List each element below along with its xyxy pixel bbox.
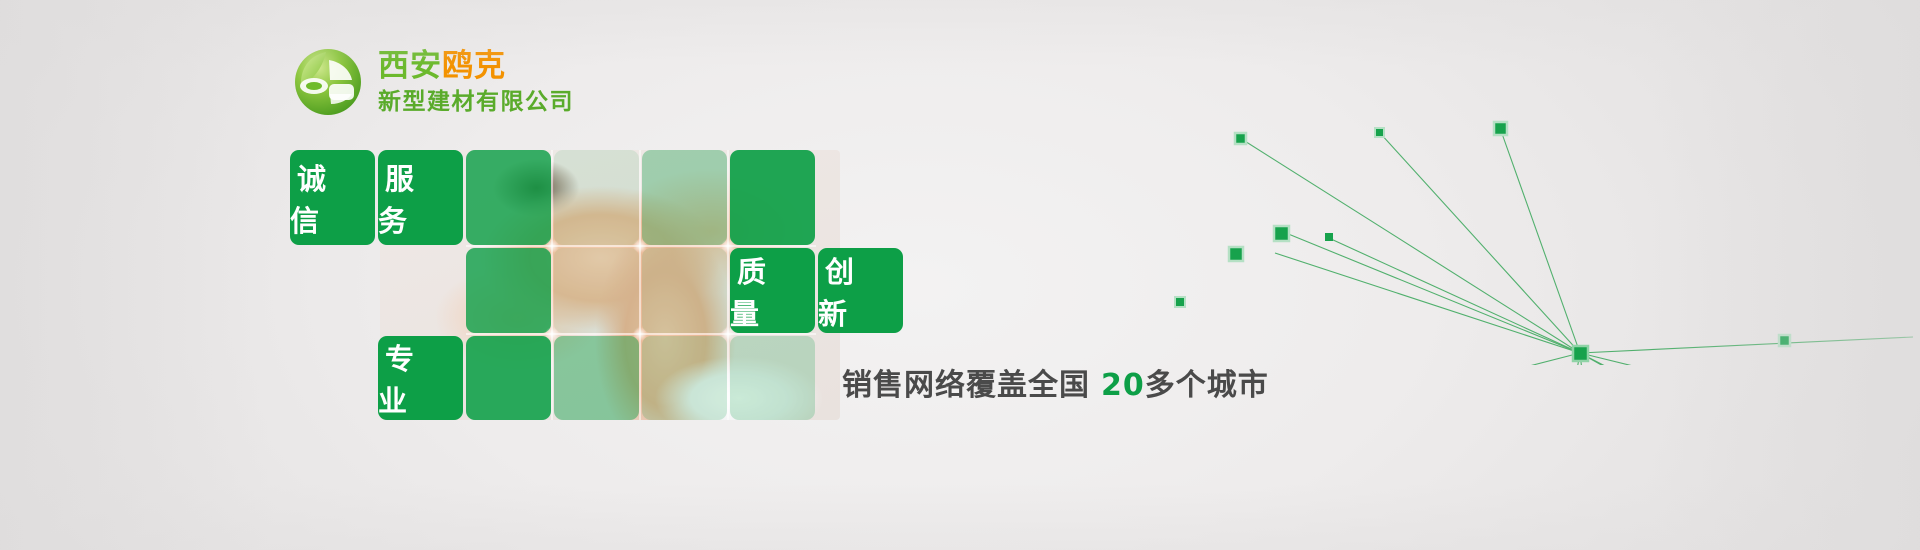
tile-blank-r3c3 bbox=[466, 336, 551, 420]
tile-integrity[interactable]: 诚 信 bbox=[290, 150, 375, 245]
logo-city: 西安 bbox=[378, 48, 442, 84]
grid-node-star bbox=[632, 326, 648, 342]
tagline-highlight: 20 bbox=[1101, 368, 1145, 403]
logo-brand: 鸥克 bbox=[442, 48, 506, 84]
tile-label: 服 务 bbox=[378, 156, 463, 240]
grid-node-star bbox=[632, 238, 648, 254]
company-logo[interactable]: 西安鸥克 新型建材有限公司 bbox=[292, 46, 574, 118]
value-tile-grid: 诚 信 服 务 质 量 创 新 专 业 bbox=[290, 150, 910, 420]
promo-banner: 诚 信 服 务 质 量 创 新 专 业 bbox=[0, 0, 1920, 550]
tile-blank-r2c5 bbox=[642, 248, 727, 333]
tile-blank-r2c3 bbox=[466, 248, 551, 333]
tile-blank-r1c3 bbox=[466, 150, 551, 245]
grid-line-v3 bbox=[727, 150, 729, 420]
tagline-suffix: 多个城市 bbox=[1145, 368, 1269, 403]
tile-innovation[interactable]: 创 新 bbox=[818, 248, 903, 333]
logo-secondary-line: 新型建材有限公司 bbox=[378, 91, 574, 114]
grid-line-v2 bbox=[639, 150, 641, 420]
tile-label: 专 业 bbox=[378, 336, 463, 420]
logo-primary-line: 西安鸥克 bbox=[378, 51, 574, 82]
tile-blank-r3c4 bbox=[554, 336, 639, 420]
dotted-world-map bbox=[735, 15, 1915, 365]
tile-professional[interactable]: 专 业 bbox=[378, 336, 463, 420]
leaf-globe-logo-icon bbox=[292, 46, 364, 118]
tile-blank-r2c4 bbox=[554, 248, 639, 333]
grid-node-star bbox=[544, 326, 560, 342]
tile-label: 创 新 bbox=[818, 249, 903, 333]
tile-blank-r1c6 bbox=[730, 150, 815, 245]
grid-node-star bbox=[720, 238, 736, 254]
tile-label: 质 量 bbox=[730, 249, 815, 333]
tile-quality[interactable]: 质 量 bbox=[730, 248, 815, 333]
grid-line-v1 bbox=[551, 150, 553, 420]
grid-node-star bbox=[720, 326, 736, 342]
tagline-prefix: 销售网络覆盖全国 bbox=[842, 368, 1090, 403]
tile-label: 诚 信 bbox=[290, 156, 375, 240]
tile-blank-r3c5 bbox=[642, 336, 727, 420]
tile-blank-r1c5 bbox=[642, 150, 727, 245]
connection-lines bbox=[1190, 128, 1915, 365]
tile-blank-r3c6 bbox=[730, 336, 815, 420]
sales-network-tagline: 销售网络覆盖全国20多个城市 bbox=[842, 360, 1269, 404]
tile-blank-r1c4 bbox=[554, 150, 639, 245]
network-nodes bbox=[1175, 122, 1790, 365]
tile-service[interactable]: 服 务 bbox=[378, 150, 463, 245]
grid-node-star bbox=[544, 238, 560, 254]
